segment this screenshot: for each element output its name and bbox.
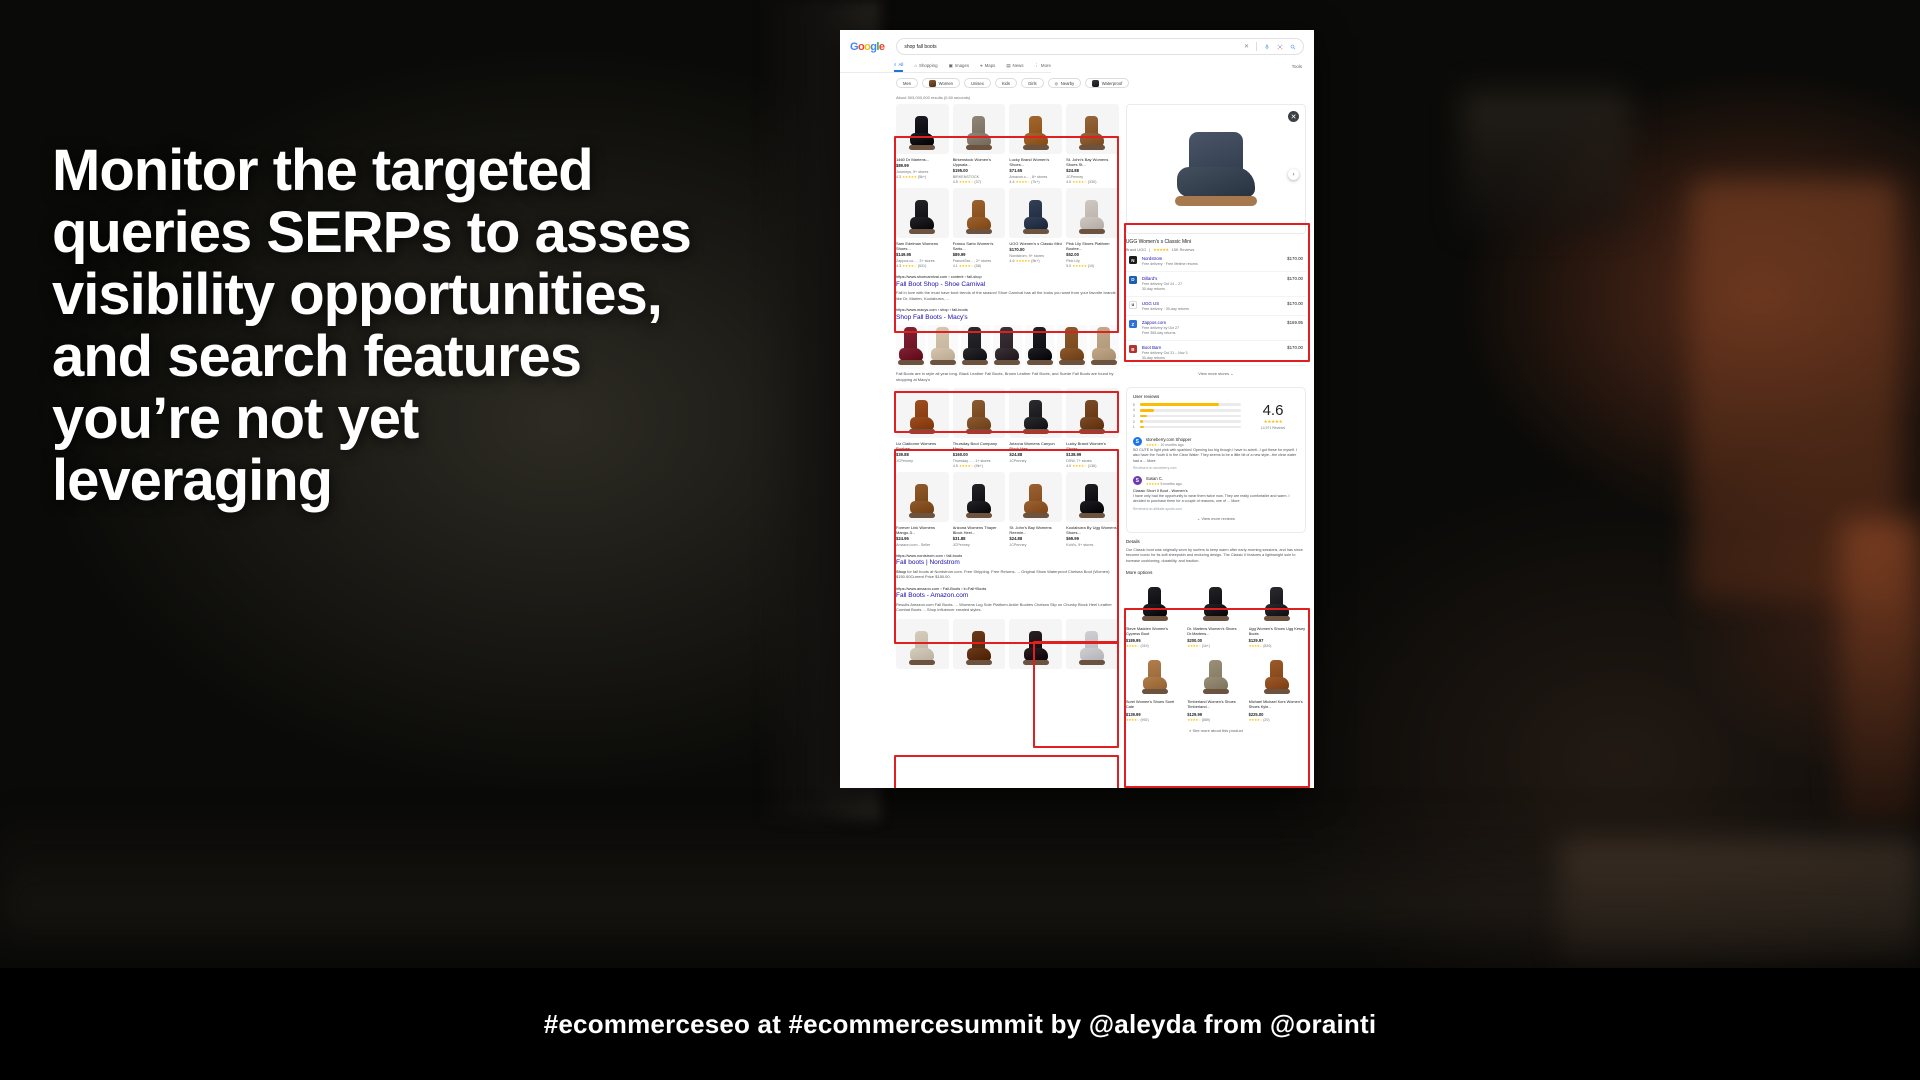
view-more-stores-button[interactable]: View more stores ⌄: [1126, 366, 1306, 381]
result-title[interactable]: Fall Boot Shop - Shoe Carnival: [896, 281, 1119, 289]
product-thumbnail: [896, 472, 949, 522]
review-count: 15K Reviews: [1172, 247, 1195, 252]
product-card[interactable]: Sam Edelman Womens Shoes...$149.95Zappos…: [896, 188, 949, 268]
chevron-down-icon: ⌄: [1230, 371, 1233, 376]
result-url: https://www.macys.com › shop › fall-boot…: [896, 307, 1119, 312]
slide-headline: Monitor the targeted queries SERPs to as…: [52, 140, 712, 512]
rating-stars: ★★★★☆: [1187, 644, 1201, 648]
seller-favicon: B: [1129, 345, 1137, 353]
avatar: S: [1133, 476, 1142, 485]
boot-illustration: [909, 116, 935, 150]
product-card[interactable]: [953, 619, 1006, 673]
boot-illustration: [1203, 587, 1229, 621]
rating-stars: ★★★★★: [902, 175, 917, 179]
carousel-image[interactable]: [1090, 325, 1119, 369]
product-thumbnail: [1126, 652, 1183, 698]
related-product-card[interactable]: Steve Madden Women's Cypress Boot$189.95…: [1126, 579, 1183, 648]
user-review: SSusan C.★★★★★ 5 months agoClassic Short…: [1133, 476, 1299, 511]
logo-letter: e: [879, 41, 885, 53]
reviewer-name: stoneberry.com Shopper: [1146, 437, 1192, 442]
product-card[interactable]: Pink Lily Shoes Platform Bootee...$52.00…: [1066, 188, 1119, 268]
boot-illustration: [909, 484, 935, 518]
histogram-track: [1140, 426, 1241, 429]
product-rating: 4.5 ★★★★☆ (37): [953, 180, 1006, 184]
boot-illustration: [1059, 331, 1085, 365]
seller-price: $170.00: [1287, 301, 1303, 306]
seller-delivery: Free delivery by Oct 27 Free 365-day ret…: [1142, 326, 1179, 336]
view-more-label: View more stores: [1198, 371, 1229, 376]
result-description: Shop for fall boots at Nordstrom.com. Fr…: [896, 569, 1119, 580]
related-product-card[interactable]: Timberland Women's Shoes Timberland...$1…: [1187, 652, 1244, 721]
seller-name[interactable]: Boot Barn: [1142, 345, 1188, 350]
product-title[interactable]: Michael Michael Kors Women's Shoes Kyle.…: [1249, 700, 1306, 710]
product-thumbnail: [1249, 652, 1306, 698]
more-icon: ⋮: [1035, 63, 1039, 69]
boot-illustration: [1079, 200, 1105, 234]
boot-illustration: [1023, 400, 1049, 434]
boot-illustration: [1023, 200, 1049, 234]
product-price: $139.99: [1126, 712, 1183, 717]
seller-row[interactable]: ZZappos.comFree delivery by Oct 27 Free …: [1126, 316, 1306, 341]
product-rating: 5.0 ★★★★★ (10): [1066, 264, 1119, 268]
product-title[interactable]: St. John's Bay Womens Shoes St...: [1066, 157, 1119, 167]
tab-maps[interactable]: ⌖Maps: [980, 62, 995, 72]
product-hero-image: ✕ ›: [1126, 104, 1306, 234]
tab-label: Shopping: [919, 63, 938, 68]
review-body: SO CUTE in light pink with sparkles! Ope…: [1133, 448, 1299, 464]
product-store: FrancoSar... , 2+ stores: [953, 259, 1006, 263]
product-card[interactable]: St. John's Bay Womens Shoes St...$24.88J…: [1066, 104, 1119, 184]
boot-illustration: [966, 200, 992, 234]
product-price: $160.00: [953, 452, 1006, 457]
news-icon: ▤: [1006, 63, 1010, 69]
product-card[interactable]: Liz Claiborne Womens Rogbee...$39.88JCPe…: [896, 388, 949, 468]
seller-row[interactable]: BBoot BarnFree delivery Oct 31 – Nov 3 3…: [1126, 341, 1306, 366]
product-card[interactable]: Birkenstock Women's Uppsala...$195.00BIR…: [953, 104, 1006, 184]
microphone-icon[interactable]: [1263, 43, 1270, 50]
serp-screenshot: Google shop fall boots ✕: [840, 30, 1314, 788]
product-store: JCPenney: [953, 543, 1006, 547]
seller-row[interactable]: NNordstromFree delivery · Free lifetime …: [1126, 252, 1306, 272]
boot-illustration: [1142, 660, 1168, 694]
more-options-section: More options Steve Madden Women's Cypres…: [1126, 570, 1306, 735]
product-card[interactable]: Forever Link Womens Mango-3...$24.95Amaz…: [896, 472, 949, 547]
product-title[interactable]: St. John's Bay Womens Reemie...: [1009, 525, 1062, 535]
user-reviews-card: User reviews 54321 4.6 ★★★★★ 14,971 Revi…: [1126, 387, 1306, 533]
chevron-right-icon[interactable]: ›: [1288, 169, 1299, 180]
chip-label: Nearby: [1061, 81, 1075, 86]
product-card[interactable]: UGG Women's s Classic Mini$170.00Nordstr…: [1009, 188, 1062, 268]
boot-illustration: [1091, 331, 1117, 365]
product-thumbnail: [896, 188, 949, 238]
tab-news[interactable]: ▤News: [1006, 62, 1023, 72]
boot-illustration: [909, 400, 935, 434]
see-more-button[interactable]: ⌕ See more about this product: [1126, 722, 1306, 735]
product-store: Amazon.c... , 8+ stores: [1009, 175, 1062, 179]
related-product-card[interactable]: Dr. Martens Women's Shoes Dr.Martens...$…: [1187, 579, 1244, 648]
product-thumbnail: [896, 104, 949, 154]
chip-men[interactable]: Men: [896, 78, 918, 88]
tab-label: Images: [955, 63, 969, 68]
product-price: $200.00: [1187, 638, 1244, 643]
shopping-grid-1b[interactable]: Sam Edelman Womens Shoes...$149.95Zappos…: [896, 188, 1119, 268]
details-heading: Details: [1126, 539, 1306, 544]
rating-summary: 4.6 ★★★★★ 14,971 Reviews: [1247, 403, 1299, 431]
serp-left-column: 1460 Dr Martens...$89.99Journeys, 9+ sto…: [896, 104, 1119, 735]
organic-result-3[interactable]: https://www.nordstrom.com › fall-boots F…: [896, 553, 1119, 580]
rating-stars: ★★★★☆: [1016, 180, 1031, 184]
chip-label: Girls: [1028, 81, 1037, 86]
boot-illustration: [1023, 116, 1049, 150]
user-review-list: Sstoneberry.com Shopper★★★★☆ 10 months a…: [1133, 437, 1299, 511]
product-thumbnail: [953, 472, 1006, 522]
histogram-fill: [1140, 409, 1154, 412]
chip-label: Women: [939, 81, 953, 86]
search-box[interactable]: shop fall boots ✕: [896, 38, 1304, 55]
seller-favicon: Z: [1129, 320, 1137, 328]
filter-chips[interactable]: MenWomenUnisexKidsGirls◎NearbyWaterproof: [840, 73, 1314, 93]
review-meta: ★★★★★ 5 months ago: [1146, 482, 1182, 486]
carousel-image[interactable]: [928, 325, 957, 369]
lens-icon[interactable]: [1276, 43, 1283, 50]
product-rating: ★★★★☆ (889): [1187, 718, 1244, 722]
brand-label: Brand UGG: [1126, 247, 1146, 252]
rating-stars: ★★★★☆: [1187, 718, 1201, 722]
chip-unisex[interactable]: Unisex: [964, 78, 991, 88]
tab-all[interactable]: ⌕All: [894, 62, 903, 72]
product-thumbnail: [953, 104, 1006, 154]
rating-stars: ★★★★☆: [1146, 443, 1160, 447]
seller-delivery: Free delivery · 30-day returns: [1142, 307, 1189, 312]
result-stats: About 503,000,000 results (0.60 seconds): [840, 93, 1314, 104]
product-rating: 4.3 ★★★★☆ (531): [896, 264, 949, 268]
boot-illustration: [909, 200, 935, 234]
product-title[interactable]: Lucky Brand Women's Shoes...: [1009, 157, 1062, 167]
presentation-slide: Monitor the targeted queries SERPs to as…: [0, 0, 1920, 1080]
product-title[interactable]: Birkenstock Women's Uppsala...: [953, 157, 1006, 167]
chip-label: Men: [903, 81, 911, 86]
product-price: $129.99: [1187, 712, 1244, 717]
search-icon[interactable]: [1289, 43, 1296, 50]
product-store: JCPenney: [1066, 175, 1119, 179]
avatar: S: [1133, 437, 1142, 446]
close-icon[interactable]: ✕: [1288, 111, 1299, 122]
serp-header: Google shop fall boots ✕: [840, 30, 1314, 59]
histogram-fill: [1140, 415, 1147, 418]
product-rating: ★★★★☆ (319): [1126, 644, 1183, 648]
details-section: Details Our Classic boot was originally …: [1126, 539, 1306, 565]
seller-favicon: u: [1129, 301, 1137, 309]
product-store: JCPenney: [1009, 459, 1062, 463]
carousel-image[interactable]: [1057, 325, 1086, 369]
result-title[interactable]: Fall Boots - Amazon.com: [896, 592, 1119, 600]
histogram-track: [1140, 415, 1241, 418]
product-store: Kohl's, 9+ stores: [1066, 543, 1119, 547]
product-price: $24.88: [1009, 452, 1062, 457]
product-store: BIRKENSTOCK: [953, 175, 1006, 179]
product-price: $71.65: [1009, 168, 1062, 173]
carousel-image[interactable]: [896, 325, 925, 369]
boot-illustration: [1264, 587, 1290, 621]
product-card[interactable]: Franco Sarto Women's Sarto...$89.99Franc…: [953, 188, 1006, 268]
product-title[interactable]: Sorel Women's Shoes Sorel Cate: [1126, 700, 1183, 710]
chip-label: Unisex: [971, 81, 984, 86]
footer-text: #ecommerceseo at #ecommercesummit by @al…: [544, 1009, 1377, 1040]
product-price: $170.00: [1009, 247, 1062, 252]
chip-kids[interactable]: Kids: [995, 78, 1017, 88]
related-product-card[interactable]: Sorel Women's Shoes Sorel Cate$139.99★★★…: [1126, 652, 1183, 721]
product-card[interactable]: Thursday Boot Company Men's...$160.00Thu…: [953, 388, 1006, 468]
product-rating: 4.3 ★★★★★ (5k+): [896, 175, 949, 179]
product-thumbnail: [1009, 104, 1062, 154]
carousel-image[interactable]: [1025, 325, 1054, 369]
rating-count: 14,971 Reviews: [1247, 426, 1299, 430]
desk-surface: [0, 810, 1920, 930]
organic-result-4[interactable]: https://www.amazon.com › Fall-Boots › k=…: [896, 586, 1119, 613]
seller-row[interactable]: DDillard'sFree delivery Oct 24 – 27 30-d…: [1126, 272, 1306, 297]
histogram-label: 4: [1133, 408, 1137, 412]
review-title: Classic Short II Boot - Women's: [1133, 488, 1299, 493]
product-thumbnail: [1126, 579, 1183, 625]
image-carousel[interactable]: [896, 325, 1119, 369]
product-price: $31.88: [953, 536, 1006, 541]
product-store: Journeys, 9+ stores: [896, 170, 949, 174]
product-card[interactable]: 1460 Dr Martens...$89.99Journeys, 9+ sto…: [896, 104, 949, 184]
review-body: I have only had the opportunity to wear …: [1133, 494, 1299, 504]
boot-illustration: [1203, 660, 1229, 694]
rating-stars: ★★★★☆: [1126, 644, 1140, 648]
carousel-image[interactable]: [961, 325, 990, 369]
maps-icon: ⌖: [980, 63, 982, 68]
divider: |: [1149, 247, 1150, 252]
chip-thumbnail: [1092, 80, 1099, 87]
product-thumbnail: [953, 188, 1006, 238]
tab-label: Maps: [985, 63, 996, 68]
product-title[interactable]: Pink Lily Shoes Platform Bootee...: [1066, 241, 1119, 251]
histogram-label: 5: [1133, 403, 1137, 407]
histogram-fill: [1140, 403, 1219, 406]
product-price: $69.99: [1066, 536, 1119, 541]
product-title[interactable]: Steve Madden Women's Cypress Boot: [1126, 627, 1183, 637]
product-title[interactable]: Arizona Womens Canyon Block Hee...: [1009, 441, 1062, 451]
knowledge-panel: ✕ › UGG Women's s Classic Mini Brand UGG…: [1126, 104, 1306, 735]
product-rating: ★★★★☆ (1k+): [1187, 644, 1244, 648]
histogram-row: 3: [1133, 414, 1241, 418]
product-title[interactable]: Sam Edelman Womens Shoes...: [896, 241, 949, 251]
result-description: Fall Boots are in style all year long. B…: [896, 371, 1119, 382]
product-price: $52.00: [1066, 252, 1119, 257]
product-card[interactable]: Lucky Brand Women's Shoes...$138.99DSW, …: [1066, 388, 1119, 468]
seller-name[interactable]: Zappos.com: [1142, 320, 1179, 325]
product-thumbnail: [896, 619, 949, 669]
product-thumbnail: [1066, 188, 1119, 238]
rating-stars: ★★★★☆: [1126, 718, 1140, 722]
product-rating: ★★★★☆ (20): [1249, 718, 1306, 722]
tab-label: More: [1041, 63, 1051, 68]
product-title[interactable]: Forever Link Womens Mango-3...: [896, 525, 949, 535]
product-title[interactable]: Ugg Women's Shoes Ugg Kesey Boots: [1249, 627, 1306, 637]
boot-illustration: [966, 400, 992, 434]
product-store: Zappos.co... , 3+ stores: [896, 259, 949, 263]
more-options-grid[interactable]: Steve Madden Women's Cypress Boot$189.95…: [1126, 579, 1306, 722]
seller-name[interactable]: Nordstrom: [1142, 256, 1198, 261]
histogram-row: 2: [1133, 420, 1241, 424]
seller-price: $169.95: [1287, 320, 1303, 325]
product-thumbnail: [1066, 472, 1119, 522]
seller-delivery: Free delivery Oct 24 – 27 30-day returns: [1142, 282, 1182, 292]
rating-stars: ★★★★★: [1072, 264, 1087, 268]
product-store: Pink Lily: [1066, 259, 1119, 263]
rating-stars: ★★★★☆: [959, 464, 974, 468]
rating-score: 4.6: [1247, 403, 1299, 418]
product-store: DSW, 7+ stores: [1066, 459, 1119, 463]
review-meta: ★★★★☆ 10 months ago: [1146, 443, 1192, 447]
result-description: Fall in love with the must have boot tre…: [896, 290, 1119, 301]
histogram-label: 3: [1133, 414, 1137, 418]
product-title[interactable]: 1460 Dr Martens...: [896, 157, 949, 162]
product-card[interactable]: [1066, 619, 1119, 673]
carousel-image[interactable]: [993, 325, 1022, 369]
rating-stars: ★★★★☆: [1249, 718, 1263, 722]
review-source: Reviewed on stoneberry.com: [1133, 466, 1299, 470]
chip-thumbnail: [929, 80, 936, 87]
tab-images[interactable]: ▣Images: [949, 62, 970, 72]
product-title: UGG Women's s Classic Mini: [1126, 239, 1306, 245]
seller-delivery: Free delivery · Free lifetime returns: [1142, 262, 1198, 267]
histogram-fill: [1140, 420, 1143, 423]
chip-label: Waterproof: [1102, 81, 1123, 86]
user-review: Sstoneberry.com Shopper★★★★☆ 10 months a…: [1133, 437, 1299, 470]
product-title[interactable]: Thursday Boot Company Men's...: [953, 441, 1006, 451]
product-price: $225.00: [1249, 712, 1306, 717]
logo-letter: G: [850, 41, 858, 53]
boot-illustration: [962, 331, 988, 365]
boot-illustration: [994, 331, 1020, 365]
rating-stars: ★★★★☆: [1072, 180, 1087, 184]
product-price: $138.99: [1066, 452, 1119, 457]
product-thumbnail: [1187, 652, 1244, 698]
rating-stars: ★★★★☆: [959, 180, 974, 184]
product-card[interactable]: [1009, 619, 1062, 673]
shopping-grid-2b[interactable]: Forever Link Womens Mango-3...$24.95Amaz…: [896, 472, 1119, 547]
tab-shopping[interactable]: ⌂Shopping: [914, 62, 937, 72]
product-title[interactable]: Dr. Martens Women's Shoes Dr.Martens...: [1187, 627, 1244, 637]
histogram-fill: [1140, 426, 1144, 429]
serp-tabs[interactable]: ⌕All⌂Shopping▣Images⌖Maps▤News⋮More: [840, 59, 1051, 73]
product-card[interactable]: Arizona Womens Thayer Block Heel...$31.8…: [953, 472, 1006, 547]
product-card[interactable]: Arizona Womens Canyon Block Hee...$24.88…: [1009, 388, 1062, 468]
product-title[interactable]: Timberland Women's Shoes Timberland...: [1187, 700, 1244, 710]
chip-women[interactable]: Women: [922, 78, 960, 88]
search-input[interactable]: shop fall boots: [904, 44, 1237, 50]
histogram-row: 5: [1133, 403, 1241, 407]
product-price: $89.99: [896, 163, 949, 168]
product-title[interactable]: UGG Women's s Classic Mini: [1009, 241, 1062, 246]
seller-delivery: Free delivery Oct 31 – Nov 3 30-day retu…: [1142, 351, 1188, 361]
product-price: $24.88: [1066, 168, 1119, 173]
seller-row[interactable]: uUGG USFree delivery · 30-day returns$17…: [1126, 297, 1306, 317]
product-thumbnail: [1187, 579, 1244, 625]
product-card[interactable]: Lucky Brand Women's Shoes...$71.65Amazon…: [1009, 104, 1062, 184]
organic-result-2[interactable]: https://www.macys.com › shop › fall-boot…: [896, 307, 1119, 382]
seller-list[interactable]: NNordstromFree delivery · Free lifetime …: [1126, 252, 1306, 366]
product-title[interactable]: Arizona Womens Thayer Block Heel...: [953, 525, 1006, 535]
all-icon: ⌕: [894, 62, 896, 67]
product-thumbnail: [1066, 388, 1119, 438]
histogram-track: [1140, 420, 1241, 423]
chip-waterproof[interactable]: Waterproof: [1085, 78, 1129, 88]
result-title[interactable]: Fall boots | Nordstrom: [896, 559, 1119, 567]
seller-favicon: D: [1129, 276, 1137, 284]
boot-illustration: [1079, 631, 1105, 665]
chip-label: Kids: [1002, 81, 1010, 86]
close-icon[interactable]: ✕: [1243, 43, 1250, 50]
shopping-grid-2[interactable]: Liz Claiborne Womens Rogbee...$39.88JCPe…: [896, 388, 1119, 468]
rating-histogram: 54321: [1133, 403, 1241, 431]
seller-name[interactable]: UGG US: [1142, 301, 1189, 306]
slide-footer: #ecommerceseo at #ecommercesummit by @al…: [0, 968, 1920, 1080]
product-rating: 4.0 ★★★★☆ (330): [1066, 180, 1119, 184]
boot-illustration: [1079, 400, 1105, 434]
annotation-box-bottom-products: [894, 755, 1119, 788]
product-card[interactable]: St. John's Bay Womens Reemie...$24.88JCP…: [1009, 472, 1062, 547]
background-shape: [1840, 520, 1920, 820]
details-text: Our Classic boot was originally worn by …: [1126, 548, 1306, 565]
result-title[interactable]: Shop Fall Boots - Macy's: [896, 314, 1119, 322]
seller-favicon: N: [1129, 256, 1137, 264]
product-title[interactable]: Franco Sarto Women's Sarto...: [953, 241, 1006, 251]
tab-more[interactable]: ⋮More: [1035, 62, 1051, 72]
tab-label: All: [898, 62, 903, 67]
product-title[interactable]: Lucky Brand Women's Shoes...: [1066, 441, 1119, 451]
view-more-reviews-button[interactable]: ⌄ View more reviews: [1133, 511, 1299, 526]
product-card[interactable]: [896, 619, 949, 673]
product-rating: 4.0 ★★★★☆ (136): [1066, 464, 1119, 468]
rating-stars: ★★★★☆: [959, 264, 974, 268]
shopping-grid-1[interactable]: 1460 Dr Martens...$89.99Journeys, 9+ sto…: [896, 104, 1119, 184]
product-title[interactable]: Koolaburra By Ugg Womens Shoes...: [1066, 525, 1119, 535]
boot-illustration: [966, 116, 992, 150]
product-store: JCPenney: [1009, 543, 1062, 547]
boot-illustration: [966, 484, 992, 518]
boot-illustration: [1264, 660, 1290, 694]
seller-name[interactable]: Dillard's: [1142, 276, 1182, 281]
boot-illustration: [930, 331, 956, 365]
related-product-card[interactable]: Ugg Women's Shoes Ugg Kesey Boots$129.97…: [1249, 579, 1306, 648]
product-card[interactable]: Koolaburra By Ugg Womens Shoes...$69.99K…: [1066, 472, 1119, 547]
chip-nearby[interactable]: ◎Nearby: [1048, 78, 1082, 88]
product-price: $189.95: [1126, 638, 1183, 643]
rating-stars: ★★★★★: [1146, 482, 1160, 486]
background-shape: [1460, 90, 1630, 230]
product-store: Thursday ... , 1+ stores: [953, 459, 1006, 463]
histogram-row: 4: [1133, 408, 1241, 412]
rating-stars: ★★★★★: [1247, 419, 1299, 425]
product-title[interactable]: Liz Claiborne Womens Rogbee...: [896, 441, 949, 451]
related-product-card[interactable]: Michael Michael Kors Women's Shoes Kyle.…: [1249, 652, 1306, 721]
boot-illustration: [1079, 116, 1105, 150]
shopping-grid-3[interactable]: [896, 619, 1119, 673]
tools-button[interactable]: Tools: [1292, 64, 1314, 69]
result-url: https://www.nordstrom.com › fall-boots: [896, 553, 1119, 558]
organic-result-1[interactable]: https://www.shoecarnival.com › content ›…: [896, 274, 1119, 301]
seller-price: $170.00: [1287, 345, 1303, 350]
seller-price: $170.00: [1287, 276, 1303, 281]
google-logo[interactable]: Google: [850, 41, 884, 53]
chip-girls[interactable]: Girls: [1021, 78, 1044, 88]
product-thumbnail: [1066, 619, 1119, 669]
result-url: https://www.amazon.com › Fall-Boots › k=…: [896, 586, 1119, 591]
